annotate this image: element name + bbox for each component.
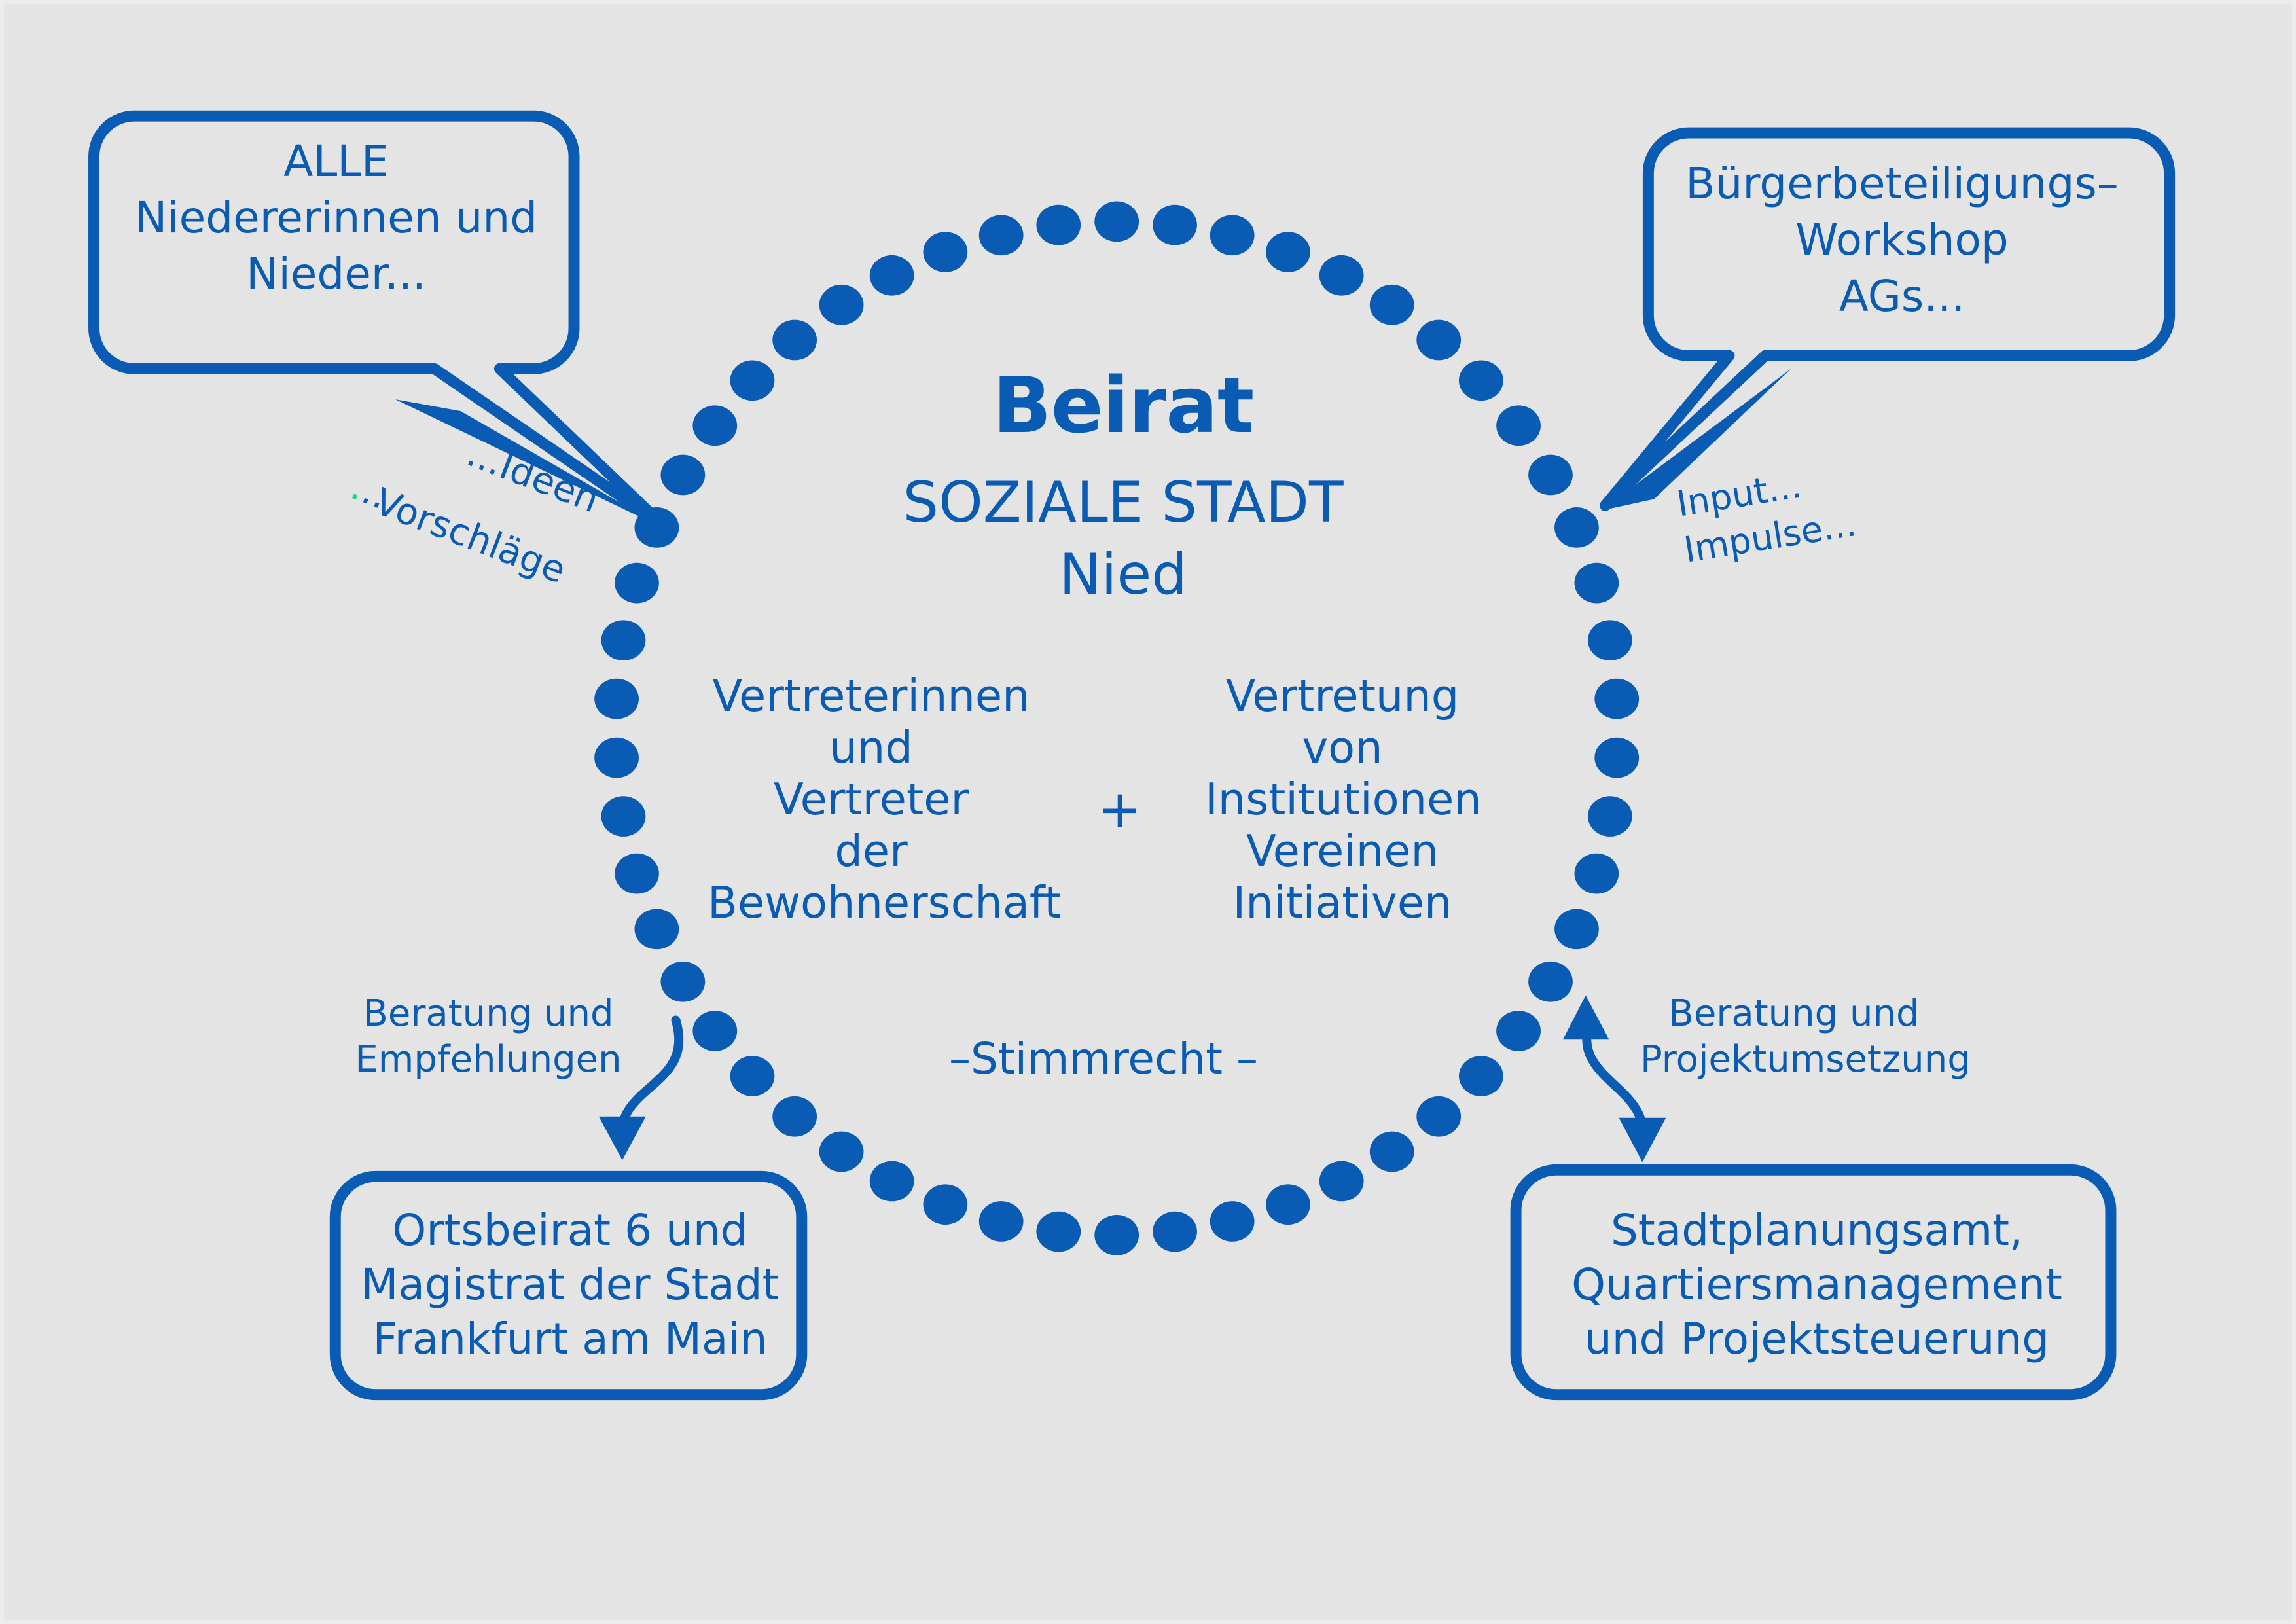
circle-dot [1266, 1184, 1310, 1225]
center-left-column: Vertreterinnen und Vertreter der Bewohne… [708, 670, 1035, 929]
plus-operator-icon: + [1077, 778, 1162, 842]
circle-dot [1574, 563, 1619, 604]
circle-dot [594, 679, 639, 719]
circle-dot [1554, 909, 1599, 949]
circle-dot [772, 320, 817, 361]
circle-dot [1496, 1011, 1541, 1051]
circle-dot [1266, 232, 1310, 272]
circle-dot [1036, 1212, 1081, 1252]
circle-dot [979, 215, 1024, 255]
annotation-beratung-projektumsetzung: Beratung und Projektumsetzung [1640, 991, 1948, 1083]
diagram-canvas: ALLE Niedererinnen und Nieder... Bürgerb… [0, 0, 2296, 1624]
circle-dot [1370, 1132, 1414, 1172]
center-heading: Beirat [776, 359, 1470, 453]
circle-dot [1370, 285, 1414, 325]
circle-dot [1036, 205, 1081, 245]
circle-dot [1594, 679, 1639, 719]
circle-dot [1094, 1215, 1139, 1255]
circle-dot [692, 405, 737, 446]
circle-dot [1153, 205, 1197, 245]
circle-dot [870, 1161, 914, 1202]
circle-dot [1574, 854, 1619, 894]
circle-dot [1496, 405, 1541, 446]
speech-bubble-top-left-label: ALLE Niedererinnen und Nieder... [105, 134, 567, 302]
circle-dot [1094, 202, 1139, 242]
circle-dot [1528, 455, 1573, 496]
circle-dot [730, 1056, 775, 1096]
center-right-column: Vertretung von Institutionen Vereinen In… [1205, 670, 1480, 929]
circle-dot [1588, 620, 1632, 660]
circle-dot [601, 796, 646, 837]
center-footnote-stimmrecht: –Stimmrecht – [933, 1033, 1274, 1086]
circle-dot [923, 232, 967, 272]
box-ortsbeirat-label: Ortsbeirat 6 und Magistrat der Stadt Fra… [344, 1203, 796, 1366]
circle-dot [1416, 1096, 1461, 1137]
circle-dot [660, 455, 705, 496]
circle-dot [692, 1011, 737, 1051]
circle-dot [923, 1184, 967, 1225]
circle-dot [772, 1096, 817, 1137]
circle-dot [819, 1132, 864, 1172]
circle-dot [1319, 255, 1364, 296]
circle-dot [1528, 962, 1573, 1002]
box-stadtplanungsamt-label: Stadtplanungsamt, Quartiersmanagement un… [1529, 1203, 2105, 1366]
circle-dot [1416, 320, 1461, 361]
circle-dot [634, 909, 679, 949]
circle-dot [1210, 215, 1255, 255]
circle-dot [1594, 738, 1639, 778]
circle-dot [660, 962, 705, 1002]
circle-dot [601, 620, 646, 660]
center-subheading-line1: SOZIALE STADT [776, 469, 1470, 537]
circle-dot [730, 360, 775, 401]
circle-dot [1459, 1056, 1503, 1096]
circle-dot [1319, 1161, 1364, 1202]
circle-dot [615, 854, 659, 894]
circle-dot [1210, 1201, 1255, 1242]
circle-dot [1153, 1212, 1197, 1252]
circle-dot [819, 285, 864, 325]
annotation-beratung-empfehlungen: Beratung und Empfehlungen [351, 991, 626, 1083]
circle-dot [870, 255, 914, 296]
circle-dot [1554, 507, 1599, 548]
speech-bubble-top-right-label: Bürgerbeteiligungs– Workshop AGs... [1660, 156, 2144, 324]
center-subheading-line2: Nied [776, 541, 1470, 609]
circle-dot [1588, 796, 1632, 837]
circle-dot [594, 738, 639, 778]
circle-dot [979, 1201, 1024, 1242]
